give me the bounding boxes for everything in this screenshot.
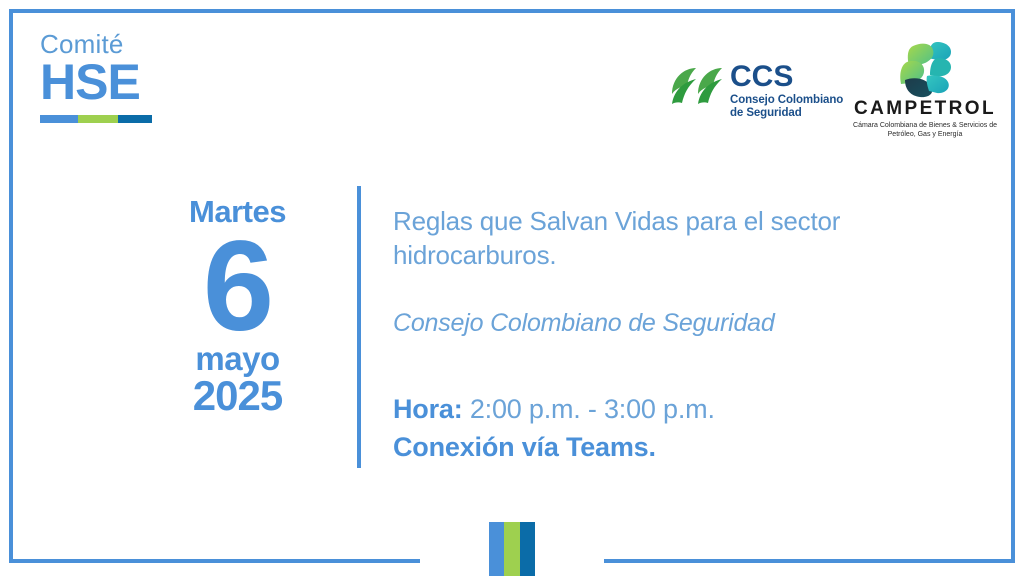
letter-c-icon [897, 40, 953, 98]
slide-canvas: Comité HSE CCS Consejo Colombiano de Seg… [0, 0, 1024, 576]
bottom-bar-green [504, 522, 519, 576]
date-day-number: 6 [130, 227, 345, 346]
ccs-logo-subtitle-line1: Consejo Colombiano [730, 94, 843, 107]
hse-bar-segment-green [78, 115, 118, 123]
event-details-block: Reglas que Salvan Vidas para el sector h… [393, 204, 953, 465]
hse-logo: Comité HSE [40, 30, 270, 123]
ccs-logo-subtitle-line2: de Seguridad [730, 107, 843, 120]
campetrol-subtitle-line1: Cámara Colombiana de Bienes & Servicios … [845, 122, 1005, 131]
event-time-label: Hora: [393, 394, 463, 424]
event-date-block: Martes 6 mayo 2025 [130, 196, 345, 418]
event-connection: Conexión vía Teams. [393, 431, 953, 465]
bottom-bar-dark-blue [520, 522, 535, 576]
frame-border-bottom-right [604, 559, 1015, 563]
event-organizer: Consejo Colombiano de Seguridad [393, 307, 953, 340]
date-month: mayo [130, 342, 345, 377]
vertical-divider [357, 186, 361, 468]
frame-border-left [9, 9, 13, 563]
event-time-value: 2:00 p.m. - 3:00 p.m. [470, 394, 715, 424]
ccs-logo-text-group: CCS Consejo Colombiano de Seguridad [730, 62, 843, 120]
hse-bar-segment-dark-blue [118, 115, 152, 123]
leaf-icon [670, 64, 726, 108]
event-topic-title: Reglas que Salvan Vidas para el sector h… [393, 204, 953, 273]
event-time-row: Hora: 2:00 p.m. - 3:00 p.m. [393, 393, 953, 427]
bottom-decoration-bars [489, 522, 535, 576]
date-year: 2025 [130, 374, 345, 418]
ccs-logo: CCS Consejo Colombiano de Seguridad [670, 62, 843, 120]
frame-border-bottom-left [9, 559, 420, 563]
frame-border-right [1011, 9, 1015, 563]
bottom-bar-blue [489, 522, 504, 576]
frame-border-top [9, 9, 1015, 13]
hse-bar-segment-blue [40, 115, 78, 123]
hse-logo-color-bar [40, 115, 152, 123]
campetrol-subtitle-line2: Petróleo, Gas y Energía [845, 131, 1005, 140]
campetrol-logo: CAMPETROL Cámara Colombiana de Bienes & … [845, 40, 1005, 139]
ccs-logo-acronym: CCS [730, 62, 843, 92]
hse-logo-acronym-text: HSE [40, 57, 270, 107]
campetrol-wordmark: CAMPETROL [845, 99, 1005, 120]
